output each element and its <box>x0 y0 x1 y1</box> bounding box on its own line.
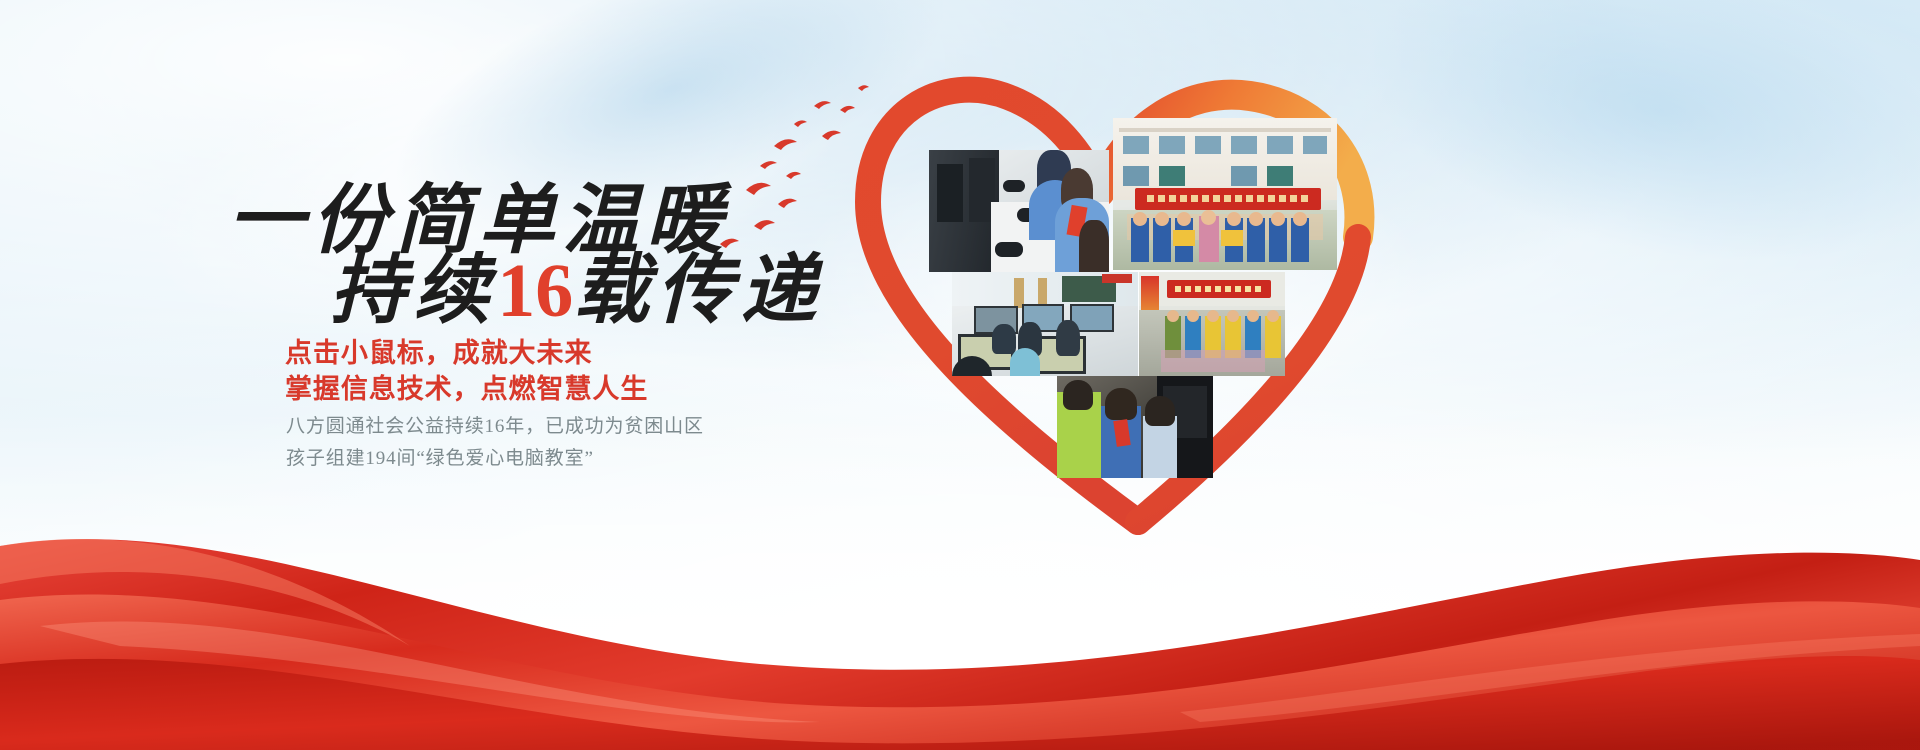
headline-suffix: 载传递 <box>573 249 824 333</box>
description-line-1: 八方圆通社会公益持续16年，已成功为贫困山区 <box>286 411 704 438</box>
headline-line-2: 持续16载传递 <box>330 228 824 338</box>
red-silk-ribbon-wave <box>0 450 1920 750</box>
headline-prefix: 持续 <box>330 249 497 333</box>
photo-group-award-presentation <box>1139 272 1285 376</box>
subheadline-line-2: 掌握信息技术，点燃智慧人生 <box>285 367 648 406</box>
photo-students-computer-lab-row <box>929 150 1109 272</box>
years-number: 16 <box>497 249 573 333</box>
photo-school-donation-ceremony <box>1113 118 1337 270</box>
photo-classroom-computers-rear <box>952 272 1138 376</box>
promotional-banner: 一份简单温暖 持续16载传递 点击小鼠标，成就大未来 掌握信息技术，点燃智慧人生… <box>0 0 1920 750</box>
subheadline-line-1: 点击小鼠标，成就大未来 <box>285 331 592 370</box>
